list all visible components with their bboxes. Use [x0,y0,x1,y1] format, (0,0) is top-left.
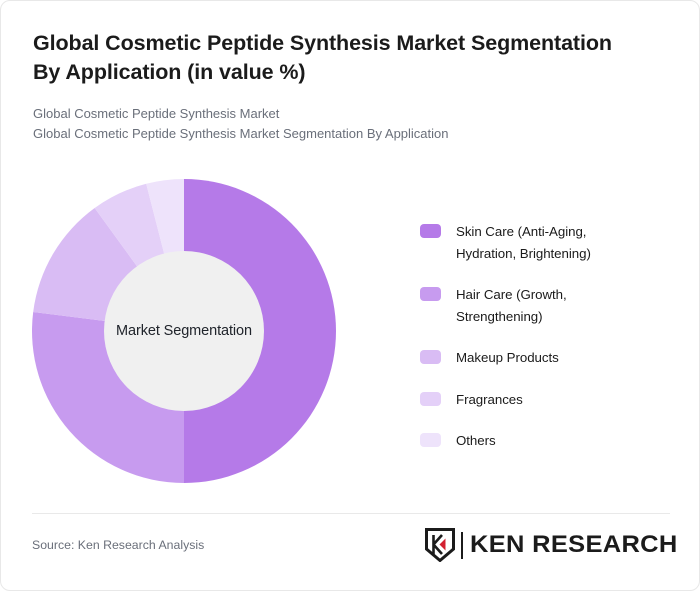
donut-chart: Market Segmentation [32,179,336,483]
chart-footer: Source: Ken Research Analysis KEN RESEAR… [32,513,670,573]
chart-card: Global Cosmetic Peptide Synthesis Market… [0,0,700,591]
legend-swatch-icon [420,224,441,238]
subtitle-block: Global Cosmetic Peptide Synthesis Market… [33,104,633,144]
legend-item[interactable]: Skin Care (Anti-Aging, Hydration, Bright… [420,221,670,264]
legend-swatch-icon [420,350,441,364]
chart-legend: Skin Care (Anti-Aging, Hydration, Bright… [420,221,670,452]
legend-item-label: Skin Care (Anti-Aging, Hydration, Bright… [456,221,641,264]
chart-header: Global Cosmetic Peptide Synthesis Market… [33,29,633,144]
donut-svg [32,179,336,483]
legend-item[interactable]: Fragrances [420,389,670,411]
legend-swatch-icon [420,433,441,447]
subtitle-line-2: Global Cosmetic Peptide Synthesis Market… [33,124,633,144]
chart-area: Market Segmentation Skin Care (Anti-Agin… [1,166,700,501]
ken-research-shield-icon [425,528,455,562]
ken-research-logo: KEN RESEARCH [425,528,670,562]
donut-center-circle [104,251,264,411]
legend-item-label: Others [456,430,496,452]
brand-name: KEN RESEARCH [470,533,678,558]
legend-item-label: Fragrances [456,389,523,411]
subtitle-line-1: Global Cosmetic Peptide Synthesis Market [33,104,633,124]
page-title: Global Cosmetic Peptide Synthesis Market… [33,29,633,86]
legend-swatch-icon [420,287,441,301]
legend-item[interactable]: Hair Care (Growth, Strengthening) [420,284,670,327]
legend-swatch-icon [420,392,441,406]
red-triangle-accent [440,539,446,551]
source-text: Source: Ken Research Analysis [32,538,204,552]
legend-item-label: Makeup Products [456,347,559,369]
legend-item-label: Hair Care (Growth, Strengthening) [456,284,641,327]
legend-item[interactable]: Others [420,430,670,452]
logo-divider [461,532,463,559]
legend-item[interactable]: Makeup Products [420,347,670,369]
